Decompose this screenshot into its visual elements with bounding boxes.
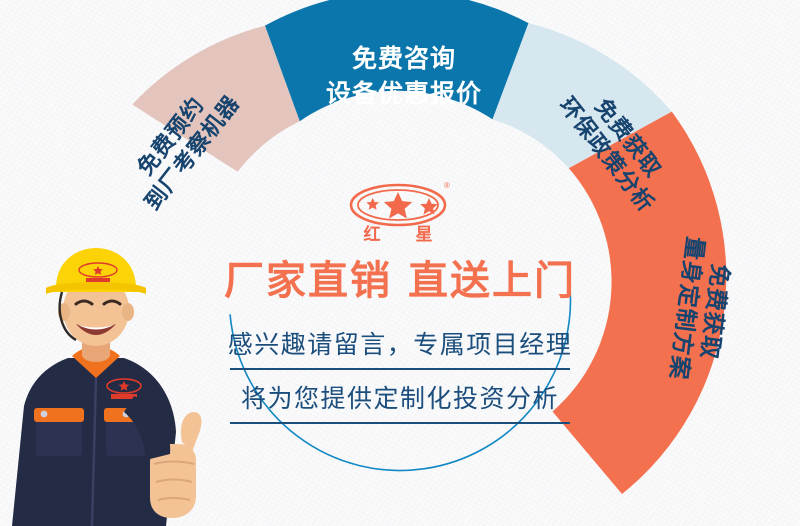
promo-banner: 免费预约 到厂考察机器 免费咨询 设备优惠报价 免费获取 环保政策分析 免费获取… bbox=[0, 0, 800, 526]
arc-segment-custom[interactable] bbox=[553, 112, 727, 494]
worker-button-left bbox=[41, 411, 48, 418]
inner-ring-line bbox=[207, 107, 592, 492]
worker-ear-right bbox=[122, 303, 134, 321]
arc-segment-consult[interactable] bbox=[265, 0, 529, 121]
worker-photo bbox=[6, 246, 218, 526]
